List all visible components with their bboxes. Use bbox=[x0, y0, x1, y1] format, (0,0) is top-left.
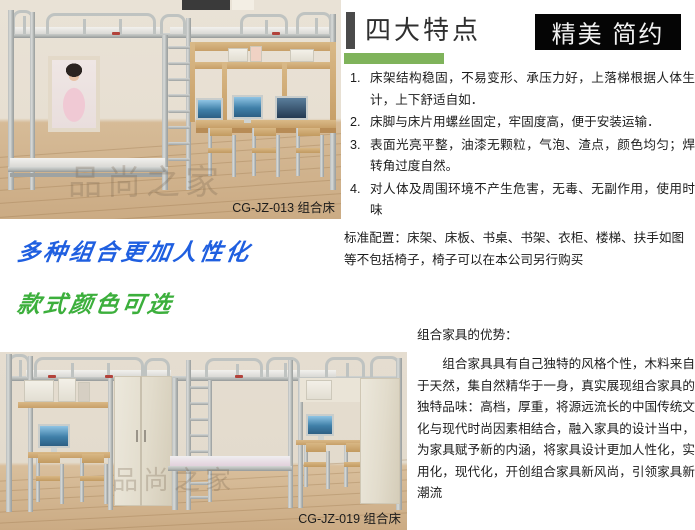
guard-rail bbox=[160, 14, 186, 34]
chair-back bbox=[254, 128, 276, 136]
shelf-books bbox=[58, 378, 76, 402]
wardrobe-handle bbox=[144, 430, 146, 442]
monitor bbox=[196, 98, 223, 120]
poster-figure bbox=[52, 60, 96, 128]
chair-back bbox=[298, 128, 320, 136]
advantage-block: 组合家具的优势： 组合家具具有自己独特的风格个性，木料来自于天然，集自然精华于一… bbox=[417, 325, 695, 505]
bed-post bbox=[108, 378, 113, 510]
lower-mattress bbox=[10, 158, 165, 167]
chair-seat bbox=[208, 148, 234, 153]
advantage-body: 组合家具具有自己独特的风格个性，木料来自于天然，集自然精华于一身，真实展现组合家… bbox=[417, 354, 695, 505]
status-badge: 精美 简约 bbox=[535, 14, 681, 50]
shelf-books bbox=[306, 380, 332, 400]
page-title: 四大特点 bbox=[365, 10, 481, 47]
shelf-books bbox=[228, 48, 248, 62]
monitor bbox=[232, 95, 263, 119]
chair-seat bbox=[304, 462, 328, 467]
list-item: 床脚与床片用螺丝固定，牢固度高，便于安装运输． bbox=[370, 112, 695, 134]
shelf-books bbox=[290, 49, 314, 62]
guard-rail bbox=[34, 357, 144, 377]
chair-seat bbox=[252, 148, 278, 153]
guard-rail bbox=[144, 358, 170, 377]
monitor bbox=[38, 424, 70, 448]
wardrobe bbox=[360, 378, 400, 504]
standard-configuration-text: 标准配置：床架、床板、书桌、书架、衣柜、楼梯、扶手如图等不包括椅子，椅子可以在本… bbox=[344, 228, 695, 271]
bed-tag bbox=[235, 375, 243, 378]
chair-seat bbox=[296, 148, 322, 153]
chair-back bbox=[210, 128, 232, 136]
shelf-frame bbox=[78, 382, 90, 402]
headline-tick-icon bbox=[346, 12, 355, 49]
list-item: 表面光亮平整，油漆无颗粒，气泡、渣点，颜色均匀；焊接处转角过度自然。 bbox=[370, 135, 695, 178]
chair-leg bbox=[326, 451, 330, 489]
guard-rail bbox=[46, 13, 156, 34]
bed-post bbox=[6, 354, 12, 512]
hutch-shelf bbox=[18, 402, 108, 408]
chair-leg bbox=[104, 464, 108, 504]
shelf-item bbox=[250, 46, 262, 62]
guard-rail bbox=[205, 358, 263, 377]
lower-frame bbox=[10, 173, 162, 177]
hutch-side bbox=[190, 42, 195, 122]
desk-top bbox=[196, 120, 336, 128]
laptop-screen bbox=[275, 96, 308, 120]
chair-seat bbox=[80, 476, 106, 481]
bed-post bbox=[288, 360, 293, 508]
hutch-top bbox=[190, 42, 336, 51]
bed-post bbox=[172, 378, 178, 510]
wardrobe bbox=[114, 376, 172, 506]
wardrobe-handle bbox=[136, 430, 138, 442]
product-code-top: CG-JZ-013 组合床 bbox=[232, 197, 335, 216]
chair-leg bbox=[276, 135, 280, 177]
product-photo-cg-jz-013: 品尚之家 CG-JZ-013 组合床 bbox=[0, 0, 341, 219]
chair-leg bbox=[320, 135, 324, 177]
slogan-line-1: 多种组合更加人性化 bbox=[15, 233, 254, 267]
page-root: 品尚之家 CG-JZ-013 组合床 多种组合更加人性化 款式颜色可选 四大特点… bbox=[0, 0, 695, 530]
guard-rail bbox=[266, 357, 300, 377]
wall-window-2 bbox=[232, 0, 254, 10]
chair-leg bbox=[232, 135, 236, 177]
bed-tag bbox=[272, 32, 280, 35]
monitor bbox=[306, 414, 334, 436]
chair-back bbox=[38, 454, 60, 463]
feature-list: 床架结构稳固，不易变形、承压力好，上落梯根据人体生理设计，上下舒适自如． 床脚与… bbox=[344, 68, 695, 223]
guard-rail bbox=[325, 357, 365, 377]
product-code-bottom: CG-JZ-019 组合床 bbox=[298, 508, 401, 527]
product-photo-cg-jz-019: 品尚之家 CG-JZ-019 组合床 bbox=[0, 352, 407, 530]
list-item: 床架结构稳固，不易变形、承压力好，上落梯根据人体生理设计，上下舒适自如． bbox=[370, 68, 695, 111]
lower-deck bbox=[168, 466, 292, 471]
shelf-books bbox=[24, 380, 54, 402]
list-item: 对人体及周围环境不产生危害，无毒、无副作用，使用时无异味 bbox=[370, 179, 695, 222]
bed-tag bbox=[48, 375, 56, 378]
hutch-side bbox=[330, 42, 336, 122]
hutch-shelf bbox=[190, 62, 336, 69]
guard-rail bbox=[240, 14, 288, 34]
wall-poster bbox=[48, 56, 100, 132]
wall-window bbox=[182, 0, 230, 10]
lower-deck bbox=[8, 167, 168, 172]
ladder-rail bbox=[208, 380, 212, 502]
chair-leg bbox=[60, 464, 64, 504]
lower-mattress bbox=[170, 456, 290, 466]
chair-back bbox=[306, 443, 326, 452]
wardrobe-seam bbox=[140, 376, 142, 506]
chair-back bbox=[82, 454, 104, 463]
monitor-stand bbox=[244, 119, 251, 123]
advantage-title: 组合家具的优势： bbox=[417, 325, 695, 346]
chair-seat bbox=[36, 476, 62, 481]
slogan-line-2: 款式颜色可选 bbox=[15, 285, 176, 319]
badge-label: 精美 简约 bbox=[535, 15, 681, 50]
features-panel: 四大特点 精美 简约 床架结构稳固，不易变形、承压力好，上落梯根据人体生理设计，… bbox=[344, 0, 695, 320]
headline-accent-bar bbox=[344, 53, 444, 64]
bed-tag bbox=[112, 32, 120, 35]
ladder bbox=[168, 40, 190, 165]
guard-rail bbox=[296, 12, 332, 34]
